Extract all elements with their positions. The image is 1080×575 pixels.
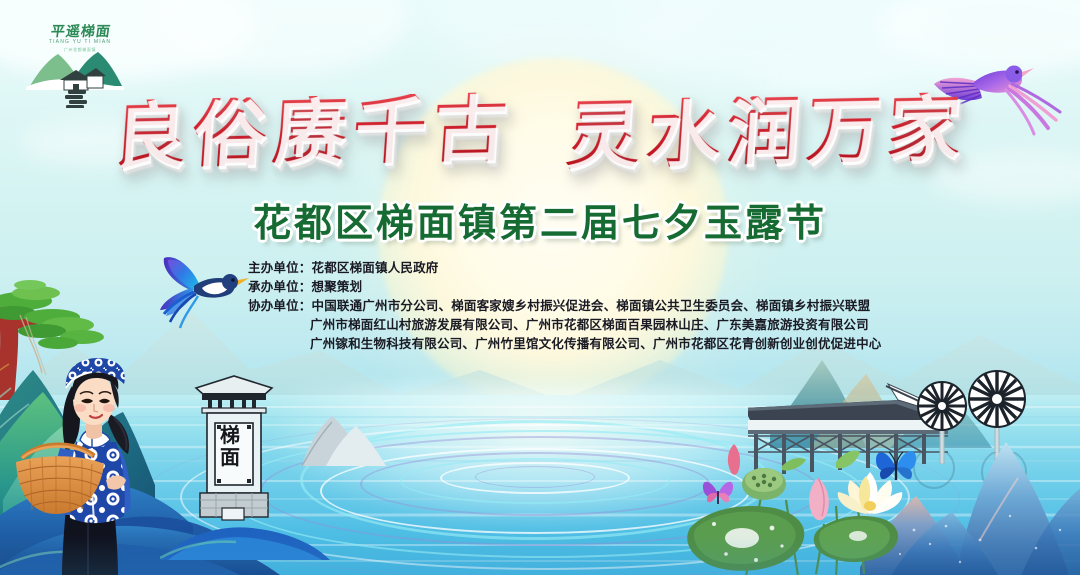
title-part-1: 良俗赓千古 [110,92,516,173]
main-title: 良俗赓千古 灵水润万家 [0,96,1080,169]
credit-line-5: 广州镓和生物科技有限公司、广州竹里馆文化传播有限公司、广州市花都区花青创新创业创… [248,335,868,354]
monument-text: 梯面 [213,424,247,468]
credit-line-1: 主办单位：花都区梯面镇人民政府 [248,259,868,278]
title-part-2: 灵水润万家 [564,92,970,173]
center-rocks [296,408,426,468]
festival-poster: 平遥梯面 TIANG YU TI MIAN 广州花都梯面镇 良俗赓千古 灵水润万… [0,0,1080,575]
tiemian-town-logo: 平遥梯面 TIANG YU TI MIAN 广州花都梯面镇 [24,16,128,108]
credit-line-2: 承办单位：想聚策划 [248,278,868,297]
credit-line-4: 广州市梯面红山村旅游发展有限公司、广州市花都区梯面百果园林山庄、广东美嘉旅游投资… [248,316,868,335]
organizer-credits: 主办单位：花都区梯面镇人民政府承办单位：想聚策划协办单位：中国联通广州市分公司、… [248,259,868,354]
logo-chinese-text: 平遥梯面 [37,21,126,41]
credit-line-3: 协办单位：中国联通广州市分公司、梯面客家嫂乡村振兴促进会、梯面镇公共卫生委员会、… [248,297,868,316]
butterfly-blue [872,444,920,488]
bottom-vignette [0,535,1080,575]
logo-tagline-text: 广州花都梯面镇 [44,47,116,53]
butterfly-purple [700,476,736,508]
logo-pinyin-text: TIANG YU TI MIAN [34,39,126,45]
event-subtitle: 花都区梯面镇第二届七夕玉露节 [0,192,1080,247]
